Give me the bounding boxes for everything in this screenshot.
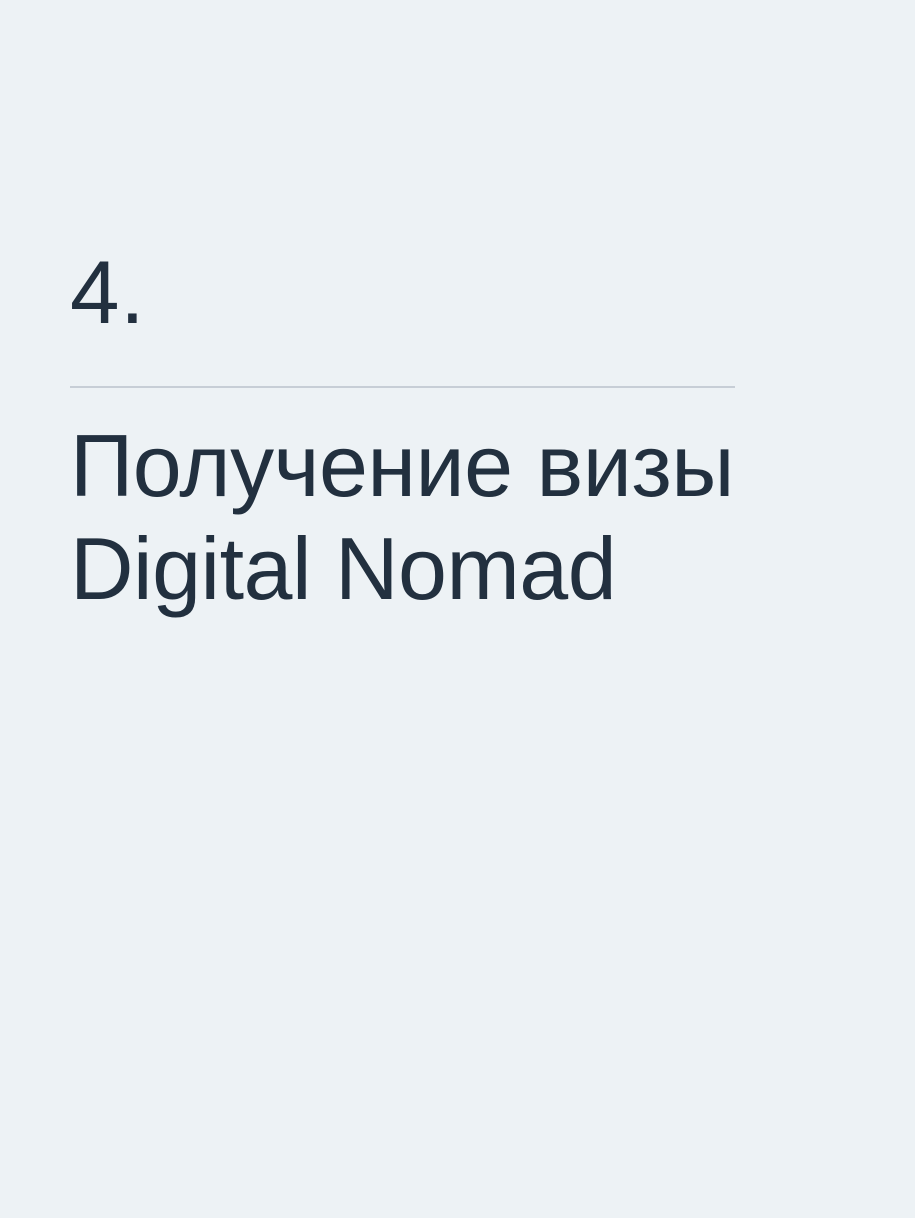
page-title: Получение визыDigital Nomad bbox=[70, 414, 770, 620]
section-divider bbox=[70, 386, 735, 388]
page-title-line-2: Digital Nomad bbox=[70, 517, 770, 620]
page-title-line-1: Получение визы bbox=[70, 414, 770, 517]
section-title-block: 4. Получение визыDigital Nomad bbox=[70, 248, 770, 620]
slide-canvas: 4. Получение визыDigital Nomad bbox=[0, 0, 915, 1218]
heading-wrapper: Получение визыDigital Nomad bbox=[70, 414, 770, 620]
section-number: 4. bbox=[70, 248, 770, 344]
